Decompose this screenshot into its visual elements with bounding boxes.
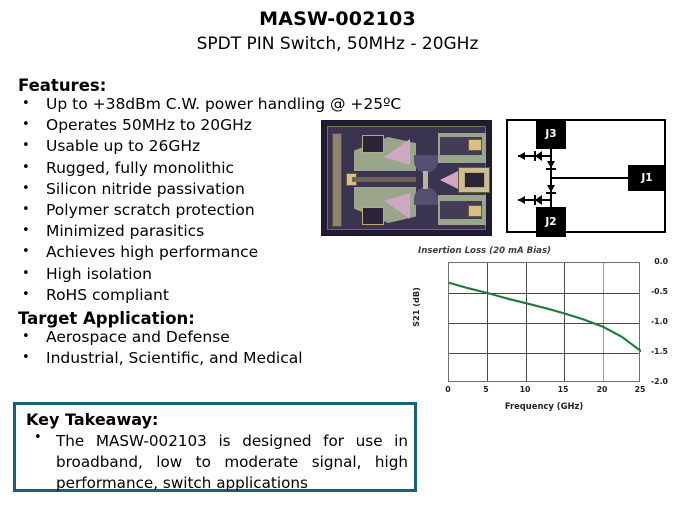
wire-to-j1 [550,177,628,179]
die-chip-lower-left [362,207,384,225]
die-transmission-line [352,177,416,182]
key-takeaway-bullet-icon: • [34,430,42,445]
die-chip-upper-left [362,135,384,153]
target-application-list: Aerospace and Defense Industrial, Scient… [18,327,303,369]
port-j3: J3 [536,119,566,149]
key-takeaway-text: The MASW-002103 is designed for use in b… [56,431,408,494]
diode-series-lower-icon [543,183,559,197]
chart-x-tick: 0 [436,385,460,394]
diode-series-upper-icon [543,159,559,173]
key-takeaway-heading: Key Takeaway: [26,410,158,429]
port-j2: J2 [536,207,566,237]
chart-x-tick: 5 [474,385,498,394]
circuit-schematic: J3 J2 J1 [506,119,666,233]
page-title: MASW-002103 [0,8,675,30]
chart-title: Insertion Loss (20 mA Bias) [418,246,551,256]
chart-x-tick: 20 [590,385,614,394]
list-item: Aerospace and Defense [18,327,303,348]
chart-plot-area [448,262,640,382]
chart-x-tick: 10 [513,385,537,394]
die-pad-lower-right [468,205,482,217]
features-heading: Features: [18,76,106,95]
chart-x-tick: 25 [628,385,652,394]
die-substrate [327,126,486,230]
die-junction-lower [414,187,438,205]
list-item: Achieves high performance [18,242,401,263]
list-item: RoHS compliant [18,285,401,306]
chart-y-axis-label: S21 (dB) [411,287,421,327]
die-chip-right [464,172,485,188]
die-left-rail [332,133,342,227]
page-subtitle: SPDT PIN Switch, 50MHz - 20GHz [0,34,675,54]
chart-x-axis-label: Frequency (GHz) [448,401,640,411]
key-takeaway-box: Key Takeaway: • The MASW-002103 is desig… [13,402,417,492]
chart-x-tick: 15 [551,385,575,394]
list-item: Up to +38dBm C.W. power handling @ +25ºC [18,94,401,115]
list-item: High isolation [18,264,401,285]
die-center-link [423,171,428,189]
chart-series-s21 [449,263,641,383]
die-photo-image [321,120,492,236]
target-application-heading: Target Application: [18,309,195,328]
port-j1: J1 [628,165,666,191]
die-pad-upper-right [468,139,482,151]
list-item: Industrial, Scientific, and Medical [18,348,303,369]
insertion-loss-chart: Insertion Loss (20 mA Bias) S21 (dB) 0.0… [410,246,668,438]
slide-canvas: MASW-002103 SPDT PIN Switch, 50MHz - 20G… [0,0,675,506]
